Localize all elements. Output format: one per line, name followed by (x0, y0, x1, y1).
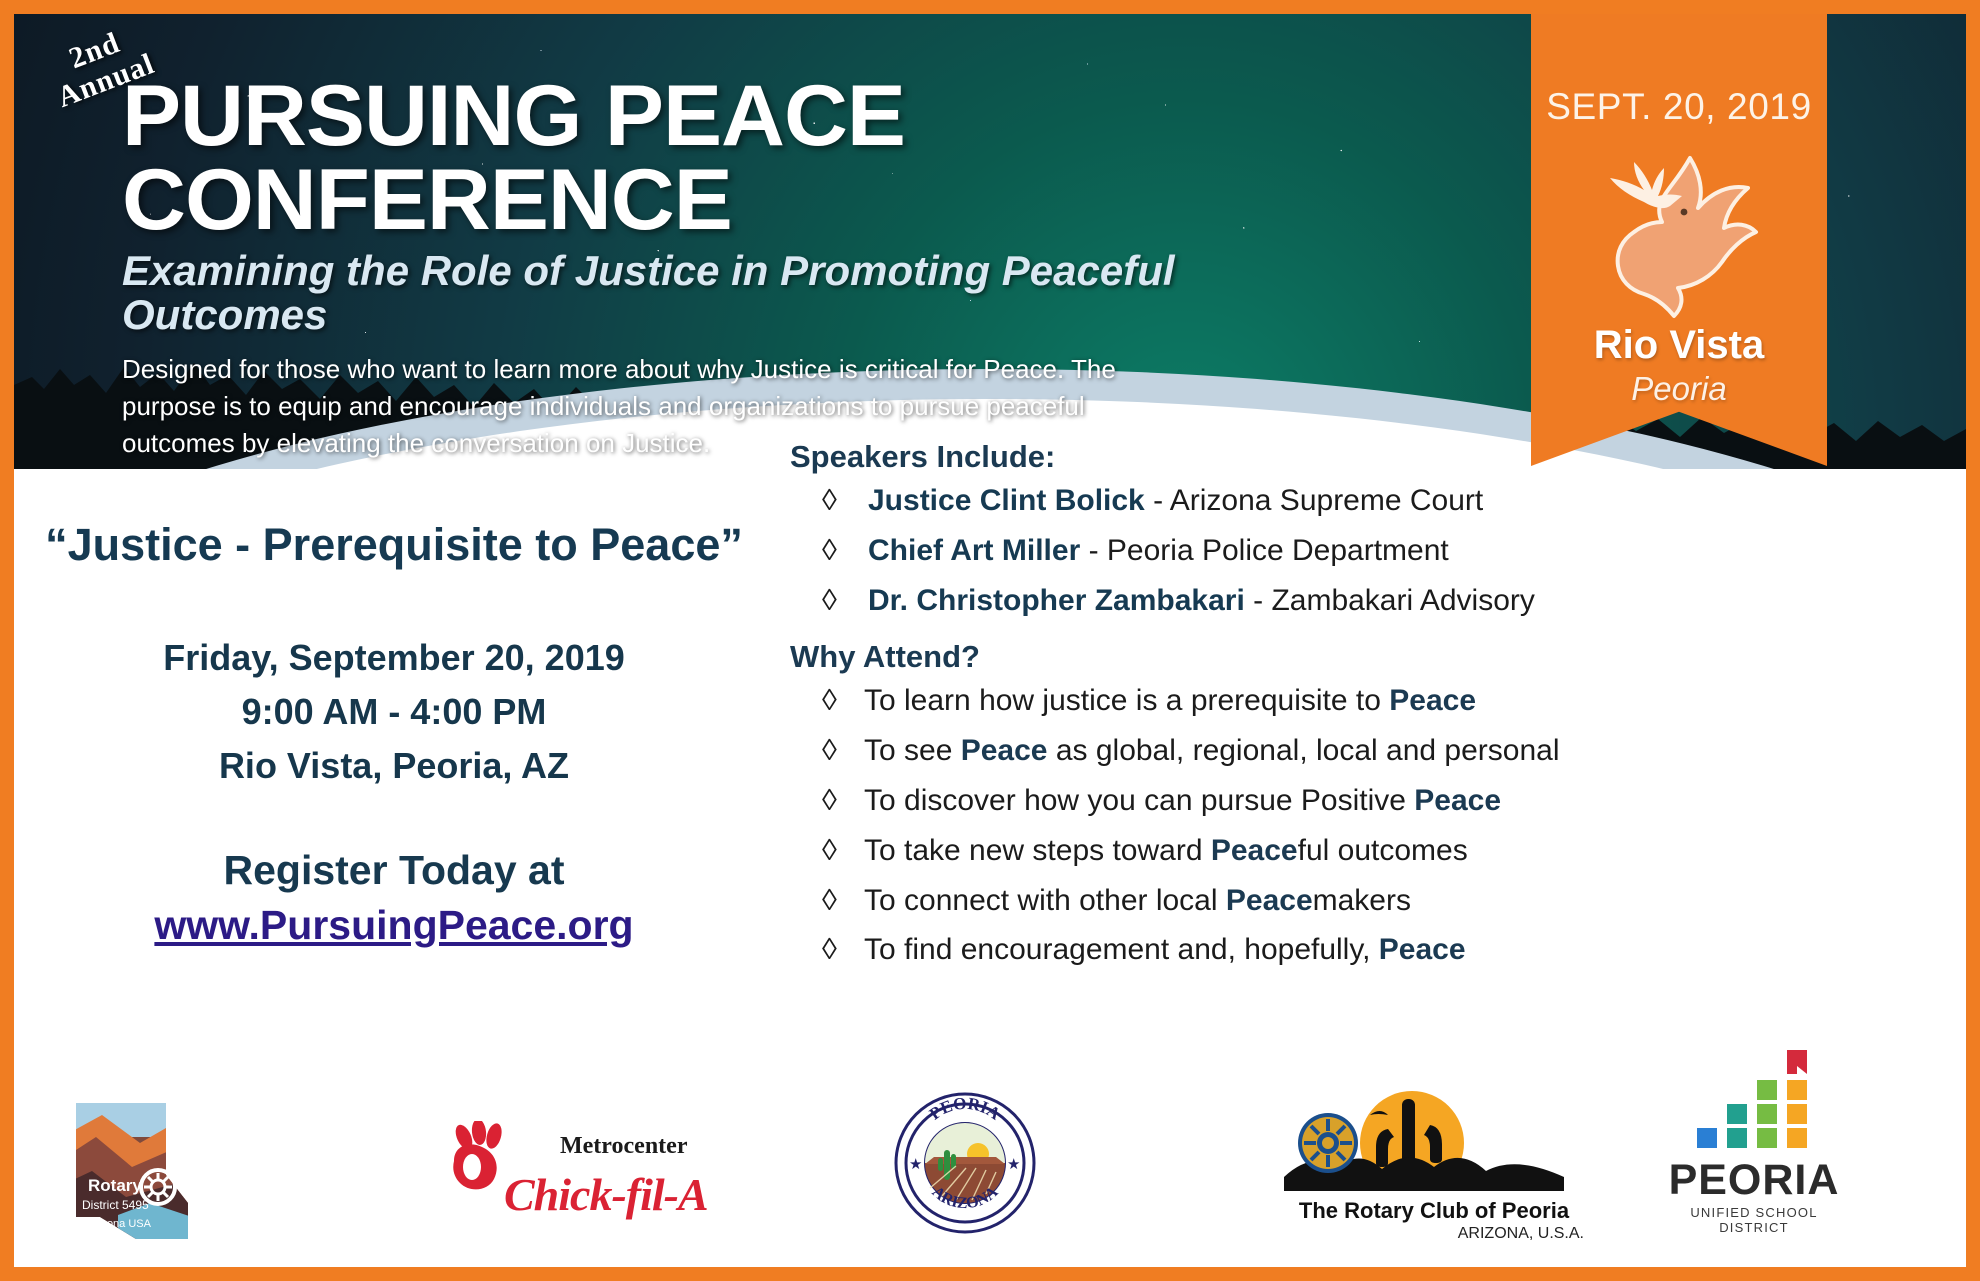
reason-item: To see Peace as global, regional, local … (822, 731, 1850, 772)
sponsor-city-of-peoria-seal: PEORIA ARIZONA ★ ★ (894, 1092, 1036, 1239)
sponsor-rotary-name: Rotary (88, 1176, 142, 1195)
speakers-and-reasons-column: Speakers Include: Justice Clint Bolick -… (790, 439, 1850, 980)
sponsor-chick-fil-a-wordmark: Chick-fil-A (504, 1168, 708, 1221)
sponsor-rotary-district: District 5495 (82, 1198, 149, 1212)
reason-keyword: Peace (961, 734, 1048, 767)
event-location-line: Rio Vista, Peoria, AZ (44, 739, 744, 793)
reason-keyword: Peace (1211, 834, 1298, 867)
speaker-item: Chief Art Miller - Peoria Police Departm… (822, 531, 1850, 572)
sponsor-logos-row: Rotary District 5495 Arizona USA (14, 1067, 1966, 1267)
desert-sunset-icon (1284, 1081, 1564, 1191)
speaker-name: Dr. Christopher Zambakari (868, 584, 1245, 617)
star-icon-right: ★ (1007, 1156, 1020, 1173)
speakers-heading: Speakers Include: (790, 439, 1850, 475)
why-attend-heading: Why Attend? (790, 639, 1850, 675)
reason-text: To discover how you can pursue Positive (864, 784, 1414, 817)
venue-name: Rio Vista (1531, 323, 1827, 368)
star-icon-left: ★ (909, 1156, 922, 1173)
reason-item: To discover how you can pursue Positive … (822, 781, 1850, 822)
reason-keyword: Peace (1379, 933, 1466, 966)
page-title: PURSUING PEACE CONFERENCE (122, 74, 1255, 243)
dove-with-olive-branch-icon (1574, 136, 1784, 321)
page-subtitle: Examining the Role of Justice in Promoti… (122, 249, 1222, 337)
event-date: SEPT. 20, 2019 (1531, 86, 1827, 128)
sponsor-rotary-region: Arizona USA (88, 1218, 152, 1230)
reason-text: To take new steps toward (864, 834, 1211, 867)
event-date-line: Friday, September 20, 2019 (44, 631, 744, 685)
reason-keyword: Peace (1389, 684, 1476, 717)
reason-text: To connect with other local (864, 884, 1226, 917)
sponsor-pusd-tagline: UNIFIED SCHOOL DISTRICT (1654, 1205, 1854, 1235)
sponsor-metrocenter-label: Metrocenter (560, 1133, 687, 1160)
why-attend-list: To learn how justice is a prerequisite t… (790, 681, 1850, 971)
reason-item: To find encouragement and, hopefully, Pe… (822, 930, 1850, 971)
speaker-affiliation: - Zambakari Advisory (1245, 584, 1535, 617)
reason-item: To connect with other local Peacemakers (822, 881, 1850, 922)
sponsor-rotary-peoria-region: ARIZONA, U.S.A. (1284, 1225, 1584, 1243)
reason-text-tail: as global, regional, local and personal (1047, 734, 1559, 767)
header-text-block: PURSUING PEACE CONFERENCE Examining the … (122, 74, 1222, 461)
reason-keyword: Peace (1226, 884, 1313, 917)
speaker-item: Dr. Christopher Zambakari - Zambakari Ad… (822, 581, 1850, 622)
reason-text: To find encouragement and, hopefully, (864, 933, 1379, 966)
reason-text-tail: ful outcomes (1298, 834, 1468, 867)
reason-text: To see (864, 734, 961, 767)
reason-item: To learn how justice is a prerequisite t… (822, 681, 1850, 722)
conference-flyer: 2nd Annual PURSUING PEACE CONFERENCE Exa… (0, 0, 1980, 1281)
register-block: Register Today at www.PursuingPeace.org (44, 845, 744, 952)
sponsor-rotary-club-of-peoria: The Rotary Club of Peoria ARIZONA, U.S.A… (1284, 1081, 1584, 1243)
speaker-name: Chief Art Miller (868, 534, 1080, 567)
speaker-name: Justice Clint Bolick (868, 484, 1145, 517)
speakers-list: Justice Clint Bolick - Arizona Supreme C… (790, 481, 1850, 621)
speaker-affiliation: - Peoria Police Department (1080, 534, 1449, 567)
reason-item: To take new steps toward Peaceful outcom… (822, 831, 1850, 872)
register-label: Register Today at (44, 845, 744, 896)
event-when-where: Friday, September 20, 2019 9:00 AM - 4:0… (44, 631, 744, 793)
venue-city: Peoria (1531, 370, 1827, 408)
sponsor-rotary-district-5495: Rotary District 5495 Arizona USA (62, 1097, 192, 1245)
speaker-affiliation: - Arizona Supreme Court (1145, 484, 1483, 517)
reason-text-tail: makers (1313, 884, 1411, 917)
sponsor-peoria-unified-school-district: PEORIA UNIFIED SCHOOL DISTRICT (1654, 1048, 1854, 1235)
reason-keyword: Peace (1414, 784, 1501, 817)
main-content: “Justice - Prerequisite to Peace” Friday… (14, 469, 1966, 1069)
speaker-item: Justice Clint Bolick - Arizona Supreme C… (822, 481, 1850, 522)
event-time-line: 9:00 AM - 4:00 PM (44, 685, 744, 739)
date-venue-banner: SEPT. 20, 2019 Rio Vista Peoria (1531, 14, 1827, 466)
sponsor-pusd-wordmark: PEORIA (1654, 1156, 1854, 1205)
event-details-column: “Justice - Prerequisite to Peace” Friday… (44, 469, 744, 951)
sponsor-rotary-peoria-name: The Rotary Club of Peoria (1284, 1198, 1584, 1224)
register-url-link[interactable]: www.PursuingPeace.org (154, 900, 633, 951)
sponsor-chick-fil-a-metrocenter: Metrocenter Chick-fil-A (434, 1117, 854, 1227)
pusd-blocks-icon (1691, 1048, 1817, 1152)
theme-quote: “Justice - Prerequisite to Peace” (44, 519, 744, 571)
reason-text: To learn how justice is a prerequisite t… (864, 684, 1389, 717)
